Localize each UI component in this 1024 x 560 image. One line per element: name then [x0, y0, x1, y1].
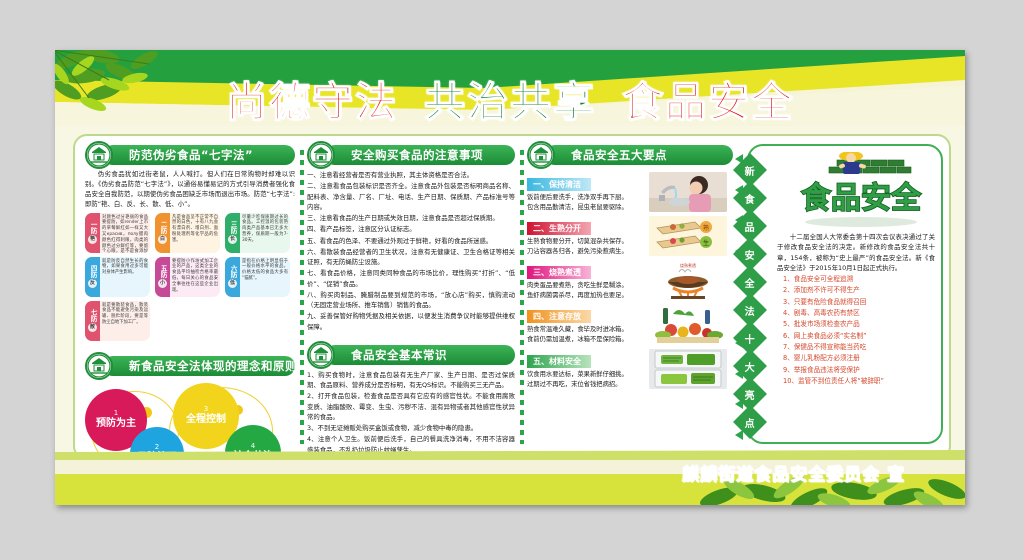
rule-text: 尽量少吃保质期过长的食品。工控温的包装熟肉类产品基本已无多大营养，保质期一般为7…	[240, 213, 290, 253]
rule-box: 二防白 凡是食品呈不正常不自然的白色，十有八九会有漂白剂、增白剂、面粉处理剂等化…	[155, 213, 220, 253]
vertical-banner: 新 食 品 安 全 法 十 大 亮 点	[738, 158, 764, 438]
column-divider	[300, 150, 304, 444]
key-point-tag: 三、烧熟煮透	[527, 266, 591, 279]
column-2: 安全购买食品的注意事项 一、注意看经营者是否有营业执照，其主体资格是否合法。 二…	[307, 144, 515, 467]
rule-key: 小	[158, 279, 167, 288]
key-point-tag: 一、保持清洁	[527, 178, 591, 191]
rule-key: 长	[228, 235, 237, 244]
highlight-item: 7、保健品不得宣称能当药吃	[783, 342, 935, 353]
highlight-item: 4、剧毒、高毒农药有禁区	[783, 308, 935, 319]
rule-order: 七防	[89, 309, 96, 322]
list-item: 五、看食品的色泽、不要通过外观过于鲜艳，好看的食品所迷惑。	[307, 236, 515, 246]
food-safety-poster: 尚德守法共治共享食品安全 觅知网 觅知网	[55, 50, 965, 505]
section-header-buying-tips: 安全购买食品的注意事项	[307, 144, 515, 166]
key-point-line: 鱼虾病菌需杀尽，再度加热也要足。	[527, 291, 645, 301]
principle-number: 3	[204, 406, 208, 413]
rule-box: 一防艳 对颜色过分艳丽的食品要提防，如render上市的草莓鲜红如一样又大又кр…	[85, 213, 150, 253]
section-header-fake-food: 防范伪劣食品“七字法”	[85, 144, 295, 166]
highlight-item: 1、食品安全可全程追溯	[783, 274, 935, 285]
key-point-5: 五、材料安全 饮食用水要达标，菜果新鲜仔细挑。 过期过不再吃，末位省钱把病招。	[527, 349, 733, 390]
rule-order: 二防	[159, 221, 166, 234]
svg-text:烧熟煮透: 烧熟煮透	[680, 262, 696, 268]
banner-char: 点	[733, 405, 767, 439]
key-point-image-cutting-board-raw-cooked: 熟 生	[649, 216, 727, 256]
content-panel: 防范伪劣食品“七字法” 伪劣食品犹如过街老鼠，人人喊打。但人们在日常购物时却难以…	[73, 134, 951, 460]
rule-order: 五防	[159, 265, 166, 278]
brick-title: 食品安全	[801, 181, 922, 216]
rule-box: 五防小 要提防小作坊式加工企业的产品，这类企业的食品平均抽检合格率最低，每日关心…	[155, 257, 220, 297]
rule-text: 对颜色过分艳丽的食品要提防，如render上市的草莓鲜红如一样又大又красив…	[100, 213, 150, 253]
key-point-image-hotpot-cooking: 烧熟煮透	[649, 260, 727, 300]
rule-order: 四防	[89, 265, 96, 278]
column-4: 新 食 品 安 全 法 十 大 亮 点	[747, 144, 943, 444]
list-item: 九、妥善保管好购物凭据及相关依据，以便发生消费争议时能够提供维权保障。	[307, 311, 515, 332]
list-item: 八、购买肉制品、腌腊制品要到规范的市场，“放心店”购买，慎购流动（无固定营业场所…	[307, 290, 515, 311]
rule-box: 六防低 是指在价格上明显低于一般价格水平的食品，价格太低的食品大多有“猫腻”。	[225, 257, 290, 297]
rule-text: 就是防反自然生长的食物，如果食用过多可能对身体产生影响。	[100, 257, 150, 297]
key-point-tag: 二、生熟分开	[527, 222, 591, 235]
key-point-line: 刀沾容器各归各，避免污染惹病生。	[527, 247, 645, 257]
list-item: 四、看产品标签，注意区分认证标志。	[307, 224, 515, 234]
highlight-item: 10、监管不到位责任人将“被辞职”	[783, 376, 935, 387]
principle-number: 1	[114, 410, 118, 417]
rule-key: 散	[88, 323, 97, 332]
rule-order: 六防	[229, 265, 236, 278]
title-part-2: 共治共享	[424, 78, 596, 126]
highlight-item: 5、批发市场须检查农产品	[783, 319, 935, 330]
list-item: 二、注意看食品包装标识是否齐全。注意食品外包装是否标明商品名称、配料表、净含量、…	[307, 181, 515, 212]
section-title: 防范伪劣食品“七字法”	[103, 145, 295, 163]
key-point-line: 食前仍需加温煮，冰箱不是保险箱。	[527, 335, 645, 345]
rule-key: 白	[158, 235, 167, 244]
column-divider	[520, 150, 524, 444]
ten-highlights-list: 1、食品安全可全程追溯 2、添加剂不许可不得生产 3、只要有危险食品就得召回 4…	[783, 274, 935, 387]
key-point-line: 生熟食物要分开，切莫混杂共保存。	[527, 237, 645, 247]
section-header-basics: 食品安全基本常识	[307, 344, 515, 366]
key-point-tag: 五、材料安全	[527, 355, 591, 368]
highlight-item: 9、举报食品违法将受保护	[783, 365, 935, 376]
rule-text: 凡是食品呈不正常不自然的白色，十有八九会有漂白剂、增白剂、面粉处理剂等化学品的危…	[170, 213, 220, 253]
rule-order: 三防	[229, 221, 236, 234]
key-point-line: 包含用品勤清洁，昆虫老鼠要驱除。	[527, 203, 645, 213]
key-point-line: 饭前便后要洗手，洗净双手再下厨。	[527, 193, 645, 203]
seven-rules-grid: 一防艳 对颜色过分艳丽的食品要提防，如render上市的草莓鲜红如一样又大又кр…	[85, 213, 295, 341]
list-item: 3、不到无证摊贩处购买盒饭或食物，减少食物中毒的隐患。	[307, 423, 515, 433]
food-safety-seal-icon	[527, 141, 555, 169]
key-point-1: 一、保持清洁 饭前便后要洗手，洗净双手再下厨。 包含用品勤清洁，昆虫老鼠要驱除。	[527, 172, 733, 213]
rule-box: 四防反 就是防反自然生长的食物，如果食用过多可能对身体产生影响。	[85, 257, 150, 297]
list-item: 六、看散装食品经营者的卫生状况，注意有无健康证、卫生合格证等相关证照，有无防蝇防…	[307, 247, 515, 268]
rule-key: 艳	[88, 235, 97, 244]
rule-text: 就是要散装食品，散装食品不能避免污染及运输、脱贮阶段，要是等防尘自地下加工厂。	[100, 301, 150, 341]
rule-box: 三防长 尽量少吃保质期过长的食品。工控温的包装熟肉类产品基本已无多大营养，保质期…	[225, 213, 290, 253]
key-point-2: 二、生熟分开 生熟食物要分开，切莫混杂共保存。 刀沾容器各归各，避免污染惹病生。…	[527, 216, 733, 257]
screenshot-root: 尚德守法共治共享食品安全 觅知网 觅知网	[0, 0, 1024, 560]
poster-header: 尚德守法共治共享食品安全	[55, 50, 965, 126]
food-safety-seal-icon	[85, 141, 113, 169]
key-point-image-child-washing-hands	[649, 172, 727, 212]
title-part-1: 尚德守法	[226, 78, 398, 126]
key-point-tag: 四、注意存放	[527, 310, 591, 323]
food-safety-seal-icon	[85, 352, 113, 380]
key-point-4: 四、注意存放 熟食常温难久藏，食毕及时进冰箱。 食前仍需加温煮，冰箱不是保险箱。	[527, 304, 733, 345]
fake-food-paragraph: 伪劣食品犹如过街老鼠，人人喊打。但人们在日常购物时却难以识别。《伪劣食品防范“七…	[85, 170, 295, 210]
key-point-line: 过期过不再吃，末位省钱把病招。	[527, 380, 645, 390]
section-header-five-keys: 食品安全五大要点	[527, 144, 733, 166]
section-title: 食品安全基本常识	[325, 345, 515, 363]
key-point-image-vegetables-basket	[649, 304, 727, 344]
list-item: 三、注意看食品的生产日期或失效日期，注意食品是否超过保质期。	[307, 213, 515, 223]
highlight-item: 2、添加剂不许可不得生产	[783, 285, 935, 296]
rule-key: 反	[88, 279, 97, 288]
key-point-3: 三、烧熟煮透 肉类蛋品要煮熟，贪吃生鲜是糊涂。 鱼虾病菌需杀尽，再度加热也要足。…	[527, 260, 733, 301]
principle-label: 全程控制	[186, 414, 226, 425]
rule-key: 低	[228, 279, 237, 288]
food-safety-seal-icon	[307, 141, 335, 169]
highlights-frame: 新 食 品 安 全 法 十 大 亮 点	[747, 144, 943, 444]
section-title: 安全购买食品的注意事项	[325, 145, 515, 163]
buying-tips-list: 一、注意看经营者是否有营业执照，其主体资格是否合法。 二、注意看食品包装标识是否…	[307, 170, 515, 332]
principle-label: 预防为主	[96, 418, 136, 429]
brick-illustration: 食品安全	[785, 152, 935, 230]
title-part-3: 食品安全	[622, 78, 794, 126]
svg-text:熟: 熟	[703, 224, 709, 232]
rule-text: 是指在价格上明显低于一般价格水平的食品，价格太低的食品大多有“猫腻”。	[240, 257, 290, 297]
key-point-line: 肉类蛋品要煮熟，贪吃生鲜是糊涂。	[527, 281, 645, 291]
footer-organization: 麒麟街道食品安全委员会 宣	[682, 460, 905, 485]
list-item: 2、打开食品包装，检查食品是否具有它应有的感官性状。不能食用腐败变质、油脂酸败、…	[307, 391, 515, 422]
column-3: 食品安全五大要点 一、保持清洁 饭前便后要洗手，洗净双手再下厨。 包含用品勤清洁…	[527, 144, 733, 393]
section-title: 新食品安全法体现的理念和原则	[103, 356, 295, 374]
key-point-line: 饮食用水要达标，菜果新鲜仔细挑。	[527, 370, 645, 380]
list-item: 七、看食品价格，注意同类同种食品的市场比价，理性购买“打折”、“低价”、“促销”…	[307, 268, 515, 289]
highlight-item: 3、只要有危险食品就得召回	[783, 297, 935, 308]
food-safety-seal-icon	[307, 341, 335, 369]
column-1: 防范伪劣食品“七字法” 伪劣食品犹如过街老鼠，人人喊打。但人们在日常购物时却难以…	[85, 144, 295, 473]
key-point-image-refrigerator-produce	[649, 349, 727, 389]
poster-title: 尚德守法共治共享食品安全	[55, 68, 965, 126]
law-intro-paragraph: 十二届全国人大常委会第十四次会议表决通过了关于修改食品安全法的决定。新修改的食品…	[777, 232, 935, 273]
list-item: 1、购买食物时，注意食品包装有无生产厂家、生产日期、是否过保质期、食品原料、营养…	[307, 370, 515, 391]
key-point-line: 熟食常温难久藏，食毕及时进冰箱。	[527, 325, 645, 335]
rule-order: 一防	[89, 221, 96, 234]
list-item: 一、注意看经营者是否有营业执照，其主体资格是否合法。	[307, 170, 515, 180]
poster-footer: 麒麟街道食品安全委员会 宣	[55, 450, 965, 505]
rule-text: 要提防小作坊式加工企业的产品，这类企业的食品平均抽检合格率最低，每日关心的食品安…	[170, 257, 220, 297]
highlight-item: 8、婴儿乳粉配方必须注册	[783, 353, 935, 364]
rule-box: 七防散 就是要散装食品，散装食品不能避免污染及运输、脱贮阶段，要是等防尘自地下加…	[85, 301, 150, 341]
section-title: 食品安全五大要点	[545, 145, 733, 163]
highlight-item: 6、网上卖食品必须“实名制”	[783, 331, 935, 342]
svg-text:生: 生	[703, 239, 709, 247]
section-header-principles: 新食品安全法体现的理念和原则	[85, 355, 295, 377]
